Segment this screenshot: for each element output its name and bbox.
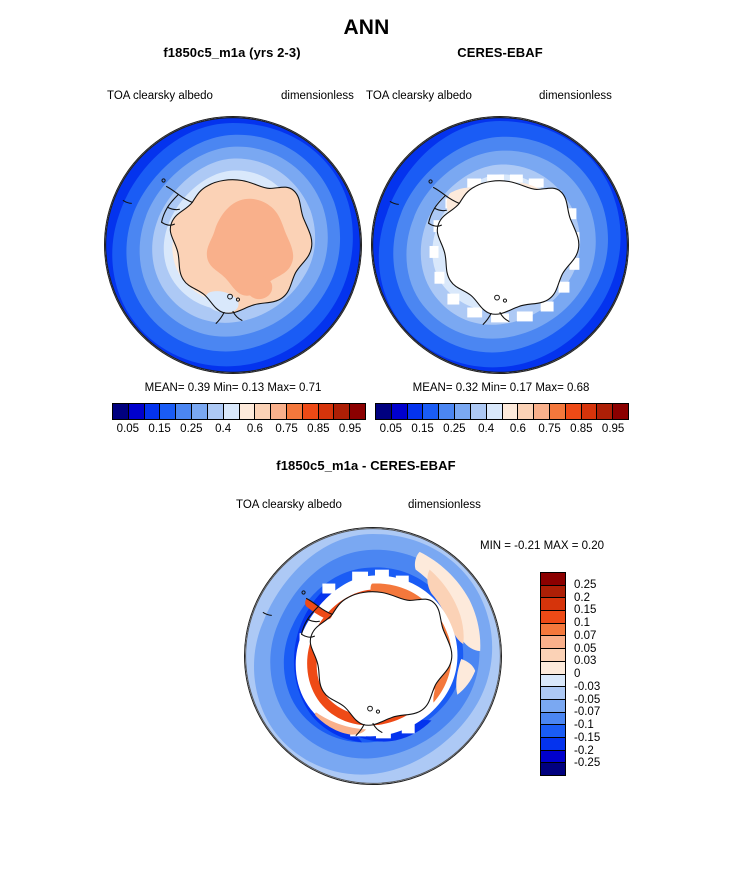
colorbar-difference-swatch — [541, 649, 565, 662]
colorbar-difference-swatch — [541, 751, 565, 764]
colorbar-difference-swatch — [541, 662, 565, 675]
colorbar-difference-swatch — [541, 598, 565, 611]
colorbar-difference-tick: 0.05 — [574, 643, 596, 655]
colorbar-difference-tick: 0.1 — [574, 617, 590, 629]
colorbar-difference-ticks: 0.250.20.150.10.070.050.030-0.03-0.05-0.… — [570, 572, 630, 776]
colorbar-observation-swatch — [455, 404, 471, 419]
colorbar-difference-swatch — [541, 725, 565, 738]
panel-variable-label-difference: TOA clearsky albedo — [236, 499, 342, 511]
colorbar-difference-swatch — [541, 573, 565, 586]
colorbar-observation-tick: 0.6 — [510, 423, 526, 435]
colorbar-model-swatch — [160, 404, 176, 419]
stats-difference: MIN = -0.21 MAX = 0.20 — [480, 540, 650, 552]
colorbar-observation-swatch — [597, 404, 613, 419]
colorbar-difference-swatch — [541, 700, 565, 713]
colorbar-observation — [375, 403, 629, 420]
map-globe-model-svg — [105, 117, 361, 373]
colorbar-model-swatch — [240, 404, 256, 419]
colorbar-model-swatch — [192, 404, 208, 419]
colorbar-observation-tick: 0.95 — [602, 423, 624, 435]
colorbar-model-tick: 0.6 — [247, 423, 263, 435]
colorbar-model-swatch — [334, 404, 350, 419]
colorbar-observation-tick: 0.25 — [443, 423, 465, 435]
colorbar-model-tick: 0.25 — [180, 423, 202, 435]
colorbar-observation-tick: 0.85 — [570, 423, 592, 435]
colorbar-observation-swatch — [582, 404, 598, 419]
colorbar-model-tick: 0.4 — [215, 423, 231, 435]
colorbar-model-tick: 0.75 — [275, 423, 297, 435]
colorbar-difference-tick: -0.2 — [574, 745, 594, 757]
colorbar-model-tick: 0.15 — [148, 423, 170, 435]
colorbar-model-swatch — [271, 404, 287, 419]
colorbar-model-swatch — [287, 404, 303, 419]
colorbar-difference-tick: -0.1 — [574, 719, 594, 731]
colorbar-observation-swatch — [550, 404, 566, 419]
panel-title-model: f1850c5_m1a (yrs 2-3) — [102, 45, 362, 60]
colorbar-observation-tick: 0.05 — [380, 423, 402, 435]
colorbar-difference-tick: -0.15 — [574, 732, 600, 744]
colorbar-difference-tick: -0.07 — [574, 706, 600, 718]
colorbar-model-swatch — [319, 404, 335, 419]
colorbar-observation-swatch — [376, 404, 392, 419]
colorbar-difference-tick: 0 — [574, 668, 580, 680]
colorbar-observation-swatch — [518, 404, 534, 419]
map-globe-difference-svg — [245, 528, 501, 784]
colorbar-difference-tick: -0.05 — [574, 694, 600, 706]
colorbar-observation-tick: 0.4 — [478, 423, 494, 435]
colorbar-observation-swatch — [471, 404, 487, 419]
colorbar-observation-ticks: 0.050.150.250.40.60.750.850.95 — [375, 423, 629, 439]
colorbar-model-tick: 0.05 — [117, 423, 139, 435]
colorbar-observation-tick: 0.15 — [411, 423, 433, 435]
panel-units-label-observation: dimensionless — [539, 90, 612, 102]
colorbar-model-ticks: 0.050.150.250.40.60.750.850.95 — [112, 423, 366, 439]
colorbar-model-swatch — [224, 404, 240, 419]
colorbar-model-swatch — [145, 404, 161, 419]
stats-observation: MEAN= 0.32 Min= 0.17 Max= 0.68 — [370, 382, 632, 394]
colorbar-difference-tick: 0.2 — [574, 592, 590, 604]
colorbar-model-swatch — [350, 404, 365, 419]
panel-title-difference: f1850c5_m1a - CERES-EBAF — [236, 458, 496, 473]
colorbar-difference-swatch — [541, 738, 565, 751]
panel-variable-label-observation: TOA clearsky albedo — [366, 90, 472, 102]
colorbar-observation-swatch — [439, 404, 455, 419]
panel-units-label-difference: dimensionless — [408, 499, 481, 511]
colorbar-difference-swatch — [541, 763, 565, 775]
colorbar-observation-tick: 0.75 — [538, 423, 560, 435]
colorbar-difference-tick: -0.25 — [574, 757, 600, 769]
colorbar-observation-swatch — [392, 404, 408, 419]
colorbar-model-swatch — [129, 404, 145, 419]
colorbar-observation-swatch — [423, 404, 439, 419]
colorbar-model-tick: 0.85 — [307, 423, 329, 435]
panel-variable-label-model: TOA clearsky albedo — [107, 90, 213, 102]
colorbar-difference-swatch — [541, 713, 565, 726]
colorbar-difference-tick: -0.03 — [574, 681, 600, 693]
map-globe-difference — [244, 527, 502, 785]
colorbar-difference-tick: 0.07 — [574, 630, 596, 642]
panel-title-observation: CERES-EBAF — [370, 45, 630, 60]
colorbar-model — [112, 403, 366, 420]
colorbar-observation-swatch — [503, 404, 519, 419]
colorbar-observation-swatch — [613, 404, 628, 419]
colorbar-model-swatch — [255, 404, 271, 419]
colorbar-difference — [540, 572, 566, 776]
colorbar-model-swatch — [208, 404, 224, 419]
colorbar-observation-swatch — [566, 404, 582, 419]
map-globe-observation-svg — [372, 117, 628, 373]
stats-model: MEAN= 0.39 Min= 0.13 Max= 0.71 — [102, 382, 364, 394]
colorbar-model-swatch — [176, 404, 192, 419]
colorbar-difference-swatch — [541, 675, 565, 688]
colorbar-difference-swatch — [541, 611, 565, 624]
colorbar-model-swatch — [113, 404, 129, 419]
colorbar-observation-swatch — [534, 404, 550, 419]
figure-title: ANN — [0, 16, 733, 40]
colorbar-difference-swatch — [541, 624, 565, 637]
colorbar-observation-swatch — [487, 404, 503, 419]
colorbar-difference-swatch — [541, 636, 565, 649]
colorbar-difference-swatch — [541, 586, 565, 599]
colorbar-model-swatch — [303, 404, 319, 419]
colorbar-difference-swatch — [541, 687, 565, 700]
panel-units-label-model: dimensionless — [281, 90, 354, 102]
map-globe-observation — [371, 116, 629, 374]
colorbar-model-tick: 0.95 — [339, 423, 361, 435]
colorbar-observation-swatch — [408, 404, 424, 419]
colorbar-difference-tick: 0.25 — [574, 579, 596, 591]
colorbar-difference-tick: 0.03 — [574, 655, 596, 667]
colorbar-difference-tick: 0.15 — [574, 604, 596, 616]
map-globe-model — [104, 116, 362, 374]
